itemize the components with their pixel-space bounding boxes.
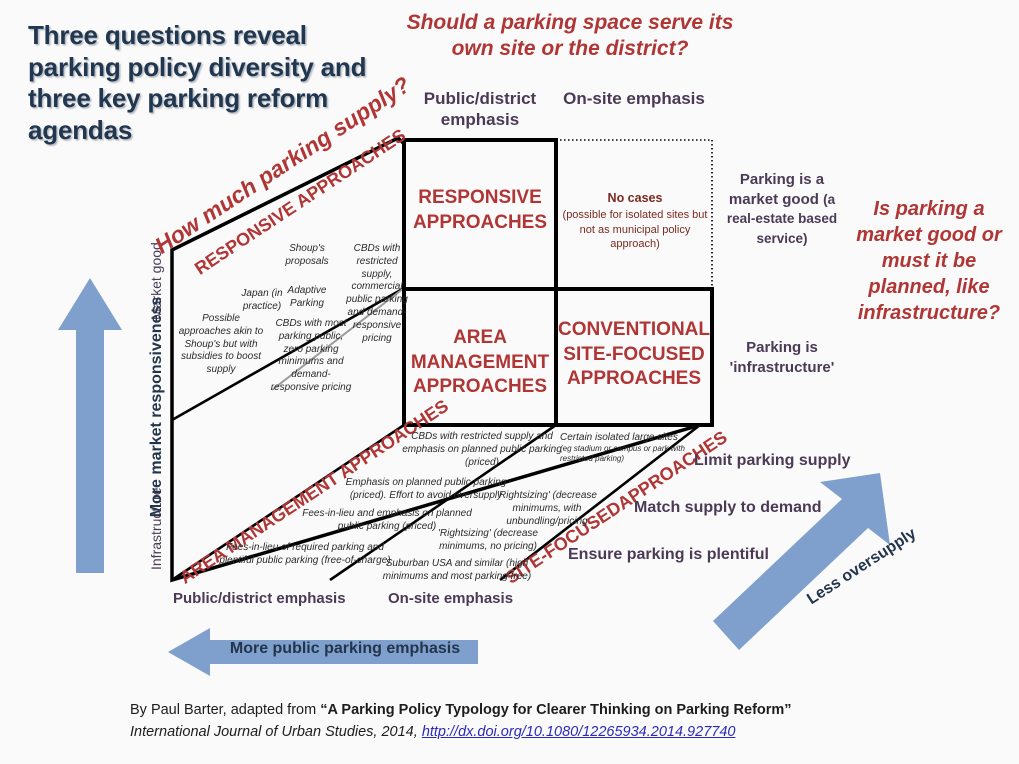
footer-line-2: International Journal of Urban Studies, … [130,722,920,744]
quadrant-top-right-body: (possible for isolated sites but not as … [563,209,708,250]
arrow-up-label: More market responsiveness [148,272,166,542]
bottom-axis-label-on-site: On-site emphasis [388,590,513,607]
arrow-left-label: More public parking emphasis [220,640,470,658]
note-cbds-restricted-commercial: CBDs with restricted supply, commercial … [344,243,410,345]
quadrant-bottom-right-label: CONVENTIONAL SITE-FOCUSED APPROACHES [558,318,710,392]
quadrant-top-right-head: No cases [560,190,710,206]
row-label-infrastructure: Parking is 'infrastructure' [722,338,842,377]
note-cbds-restricted-planned: CBDs with restricted supply and emphasis… [392,431,572,469]
footer-paper-title: “A Parking Policy Typology for Clearer T… [320,702,791,718]
note-cbds-most-parking-public: CBDs with most parking public, zero park… [268,318,354,395]
arrow-left: More public parking emphasis [168,628,478,676]
row-label-market-good-main: Parking is a market good [729,171,824,208]
arrow-diagonal-label: Less oversupply [782,510,943,623]
agenda-limit-parking-supply: Limit parking supply [694,452,850,470]
agenda-ensure-parking-plentiful: Ensure parking is plentiful [568,546,769,564]
note-fees-in-lieu-free: Fees-in-lieu of required parking and ple… [212,542,398,568]
footer-journal: International Journal of Urban Studies, … [130,724,422,740]
note-suburban-usa: Suburban USA and similar (high minimums … [374,558,540,584]
diagram-canvas: Three questions reveal parking policy di… [0,0,1019,764]
note-certain-isolated-large-sites-sub: (eg stadium or campus or park with restr… [560,444,710,464]
bottom-axis-label-public-district: Public/district emphasis [173,590,346,607]
footer-attribution: By Paul Barter, adapted from “A Parking … [130,700,920,744]
note-rightsizing-nopricing: 'Rightsizing' (decrease minimums, no pri… [420,528,556,554]
note-rightsizing-unbundling: 'Rightsizing' (decrease minimums, with u… [479,490,615,528]
note-certain-isolated-large-sites: Certain isolated large sites [560,432,720,445]
note-possible-shoup-subsidies: Possible approaches akin to Shoup's but … [175,313,267,377]
row-label-market-good: Parking is a market good (a real-estate … [722,170,842,248]
quadrant-top-right-label: No cases (possible for isolated sites bu… [560,190,710,251]
quadrant-top-left-label: RESPONSIVE APPROACHES [406,186,554,235]
footer-line-1-pre: By Paul Barter, adapted from [130,702,320,718]
quadrant-bottom-left-label: AREA MANAGEMENT APPROACHES [406,326,554,400]
agenda-match-supply-to-demand: Match supply to demand [634,499,822,517]
note-shoups-proposals: Shoup's proposals [272,243,342,269]
footer-doi-link[interactable]: http://dx.doi.org/10.1080/12265934.2014.… [422,724,736,740]
arrow-up: More market responsiveness [62,278,118,573]
footer-line-1: By Paul Barter, adapted from “A Parking … [130,700,920,722]
note-adaptive-parking: Adaptive Parking [272,285,342,311]
